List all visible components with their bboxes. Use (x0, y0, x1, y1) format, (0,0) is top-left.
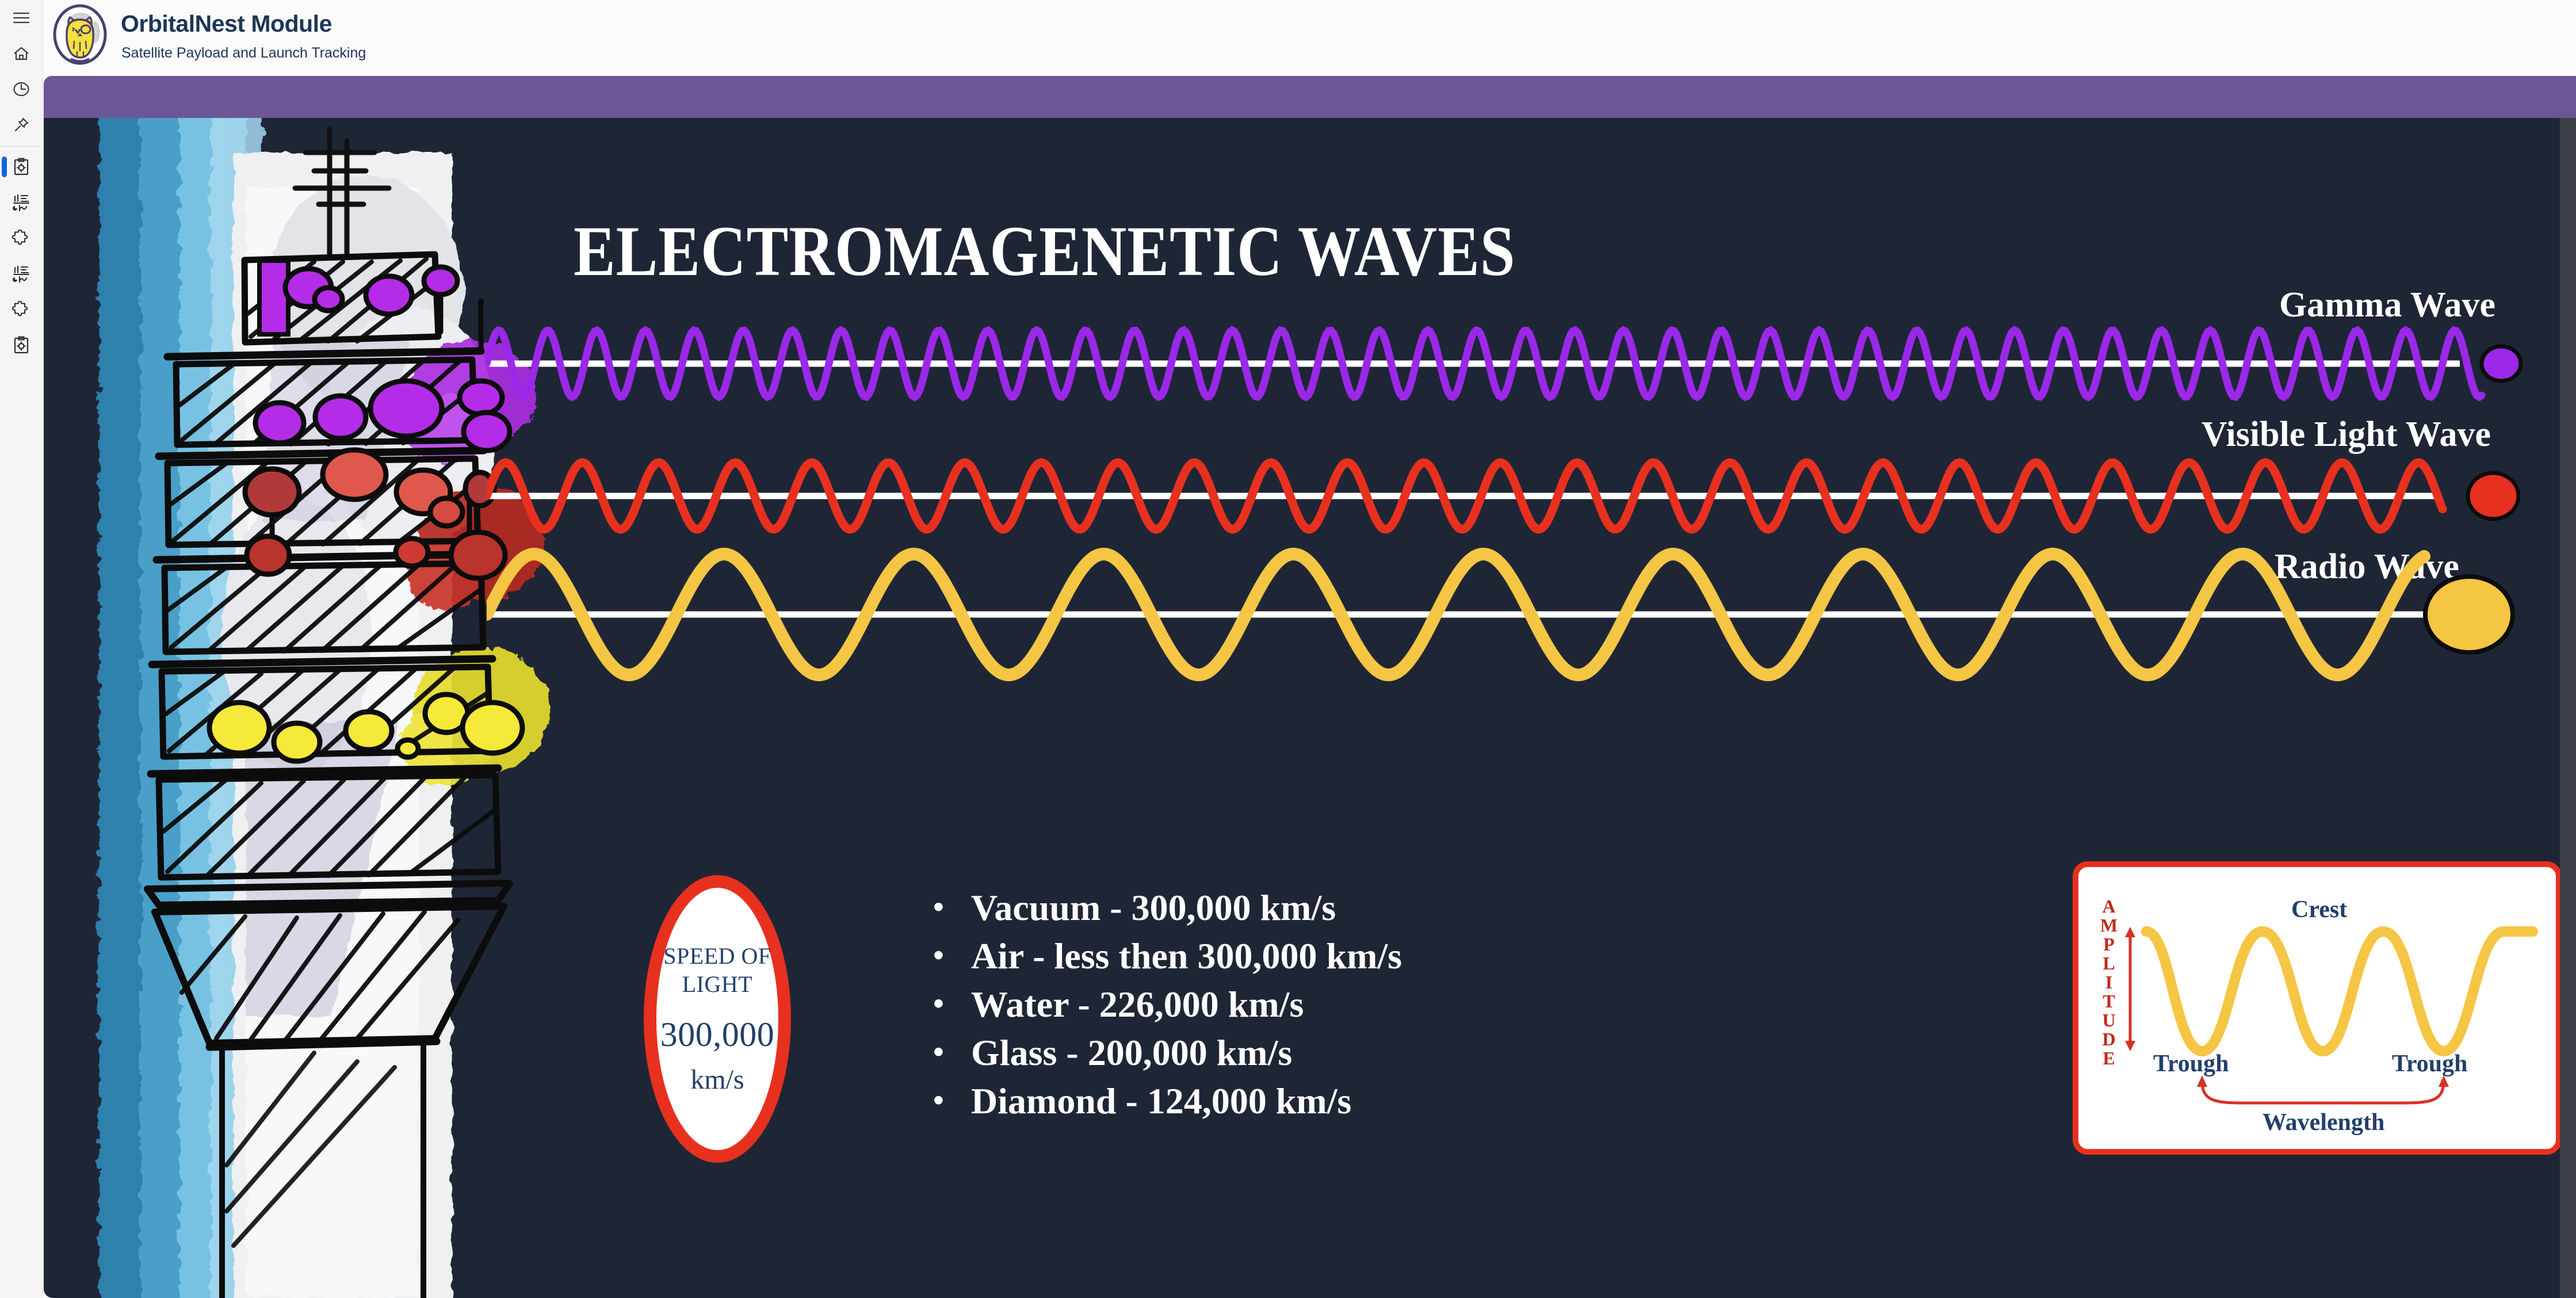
wavelength-label: Wavelength (2262, 1109, 2384, 1136)
sidebar-item-dashboard-1[interactable] (0, 185, 43, 220)
slide-title: ELECTROMAGENETIC WAVES (574, 211, 1515, 292)
list-item: Air - less then 300,000 km/s (930, 932, 1402, 980)
left-icon-rail (0, 0, 43, 1298)
trough-label-left: Trough (2153, 1050, 2229, 1078)
page-subtitle: Satellite Payload and Launch Tracking (121, 45, 366, 62)
app-header: OrbitalNest Module Satellite Payload and… (43, 0, 2576, 76)
accent-bar (44, 76, 2576, 118)
speed-of-light-label: SPEED OF LIGHT (663, 942, 771, 999)
radio-wave-graphic (487, 521, 2558, 693)
sidebar-item-addin-1[interactable] (0, 220, 43, 256)
sol-line2: LIGHT (682, 971, 752, 997)
application-window: OrbitalNest Module Satellite Payload and… (0, 0, 2576, 1298)
owl-logo-icon (50, 2, 110, 67)
list-item: Diamond - 124,000 km/s (930, 1077, 1402, 1125)
hamburger-menu-icon[interactable] (0, 0, 43, 36)
sidebar-item-dashboard-2[interactable] (0, 256, 43, 292)
slide-canvas: ELECTROMAGENETIC WAVES Gamma Wave Visibl… (44, 118, 2560, 1298)
speed-of-light-unit: km/s (690, 1064, 744, 1095)
vertical-scrollbar[interactable] (2560, 118, 2576, 1298)
amplitude-label: AMPLITUDE (2099, 897, 2119, 1068)
home-icon[interactable] (0, 36, 43, 71)
launch-tower-illustration (44, 118, 653, 1298)
rail-divider (0, 146, 43, 147)
clock-recent-icon[interactable] (0, 71, 43, 107)
sidebar-item-module-2[interactable] (0, 327, 43, 363)
speed-of-light-badge: SPEED OF LIGHT 300,000 km/s (644, 875, 791, 1163)
active-indicator (2, 156, 7, 177)
crest-label: Crest (2291, 896, 2347, 923)
media-speed-list: Vacuum - 300,000 km/s Air - less then 30… (930, 884, 1402, 1125)
list-item: Vacuum - 300,000 km/s (930, 884, 1402, 932)
speed-of-light-value: 300,000 (660, 1015, 775, 1055)
page-title: OrbitalNest Module (121, 10, 332, 37)
list-item: Glass - 200,000 km/s (930, 1029, 1402, 1077)
sidebar-item-module-active[interactable] (0, 149, 43, 185)
wavelength-diagram-card: AMPLITUDE Crest Trough Trough Wavelength (2073, 861, 2560, 1155)
sidebar-item-addin-2[interactable] (0, 292, 43, 327)
pin-icon[interactable] (0, 107, 43, 143)
trough-label-right: Trough (2392, 1050, 2468, 1078)
list-item: Water - 226,000 km/s (930, 980, 1402, 1029)
sol-line1: SPEED OF (663, 943, 771, 969)
gamma-wave-graphic (487, 316, 2558, 411)
